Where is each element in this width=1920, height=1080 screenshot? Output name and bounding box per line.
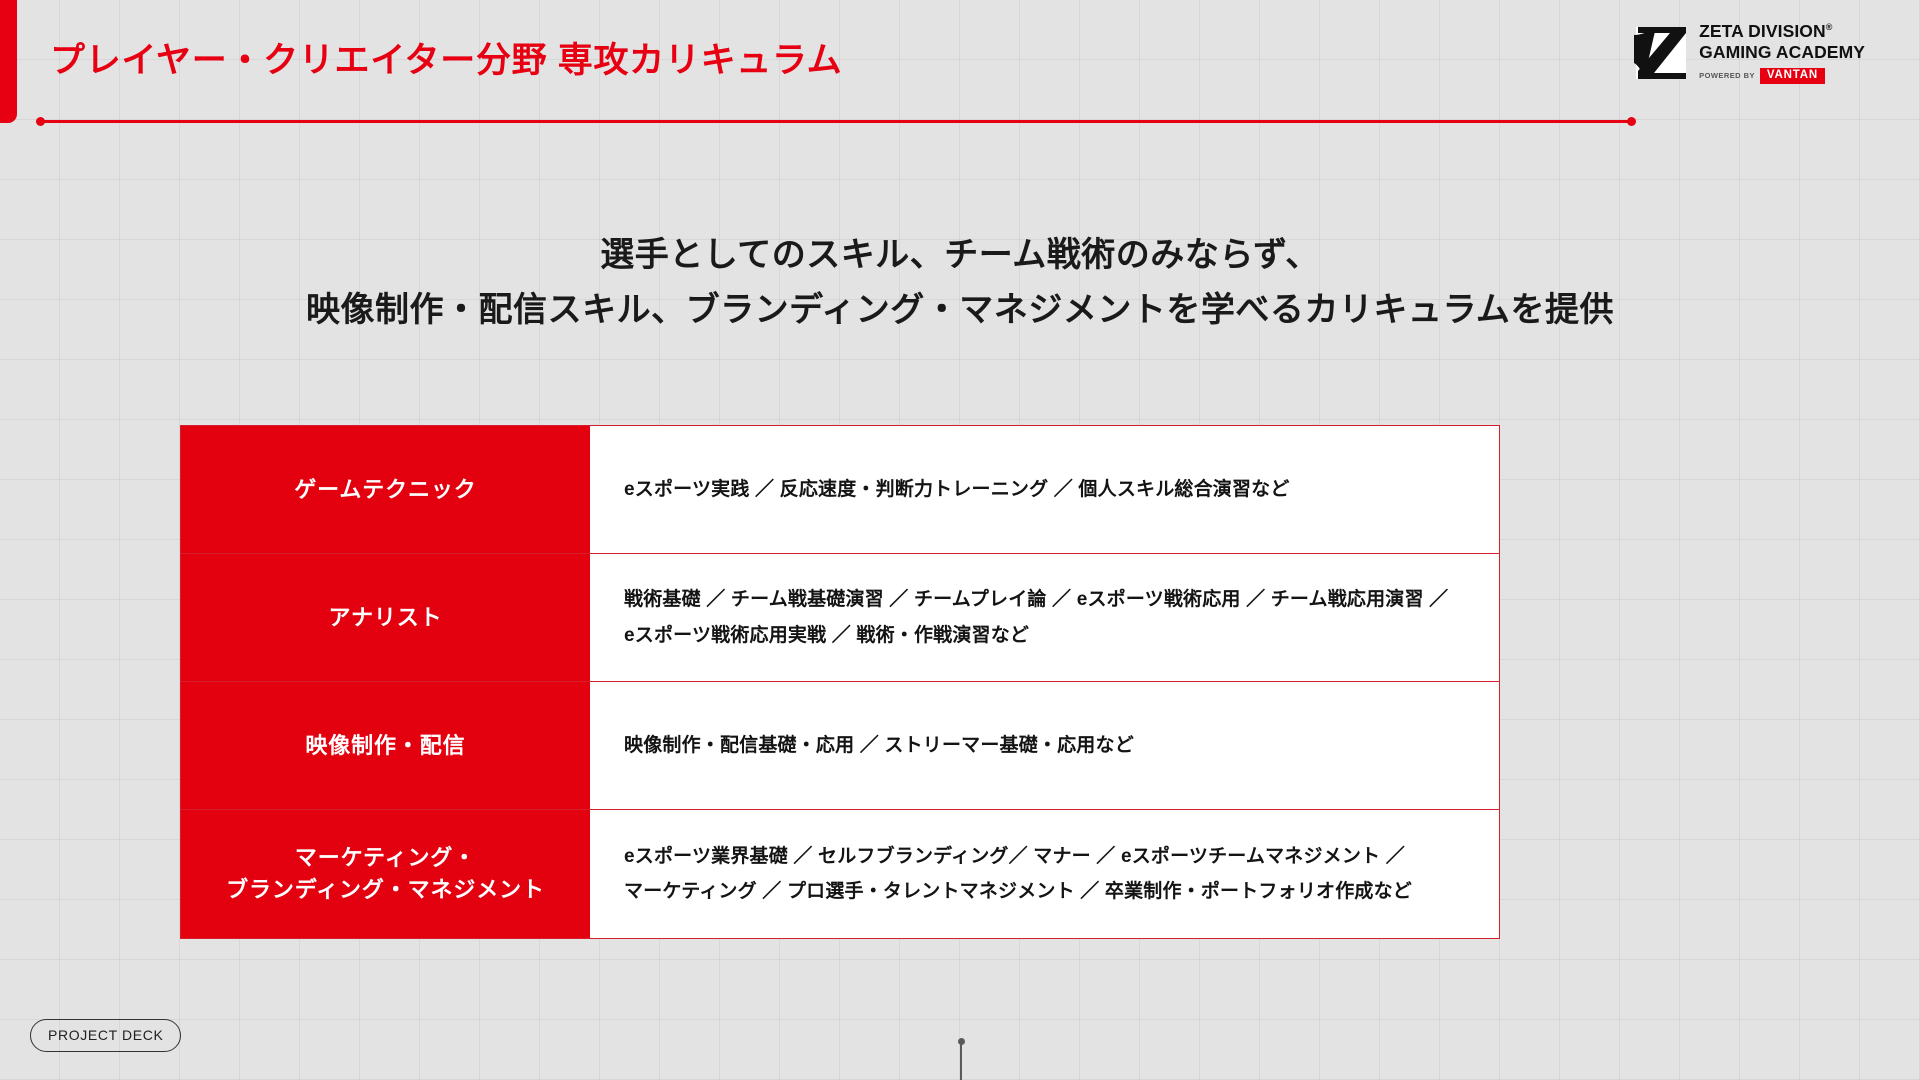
logo-line-1: ZETA DIVISION® xyxy=(1699,21,1832,41)
table-row: アナリスト 戦術基礎 ／ チーム戦基礎演習 ／ チームプレイ論 ／ eスポーツ戦… xyxy=(181,554,1499,682)
row-label-marketing-branding-management: マーケティング・ ブランディング・マネジメント xyxy=(181,810,590,938)
content-line: マーケティング ／ プロ選手・タレントマネジメント ／ 卒業制作・ポートフォリオ… xyxy=(624,874,1465,909)
header-divider-rule xyxy=(40,120,1632,123)
row-label-video-production-streaming: 映像制作・配信 xyxy=(181,682,590,809)
content-line: eスポーツ業界基礎 ／ セルフブランディング／ マナー ／ eスポーツチームマネ… xyxy=(624,839,1465,874)
vantan-badge: VANTAN xyxy=(1760,68,1825,84)
lead-heading: 選手としてのスキル、チーム戦術のみならず、 映像制作・配信スキル、ブランディング… xyxy=(0,228,1920,338)
powered-by-group: POWERED BY VANTAN xyxy=(1699,68,1865,84)
content-line: 映像制作・配信基礎・応用 ／ ストリーマー基礎・応用など xyxy=(624,728,1465,763)
row-label-game-technique: ゲームテクニック xyxy=(181,426,590,553)
footer-center-tick-mark xyxy=(960,1042,962,1080)
registered-trademark-icon: ® xyxy=(1826,22,1833,32)
logo-wordmark: ZETA DIVISION® GAMING ACADEMY POWERED BY… xyxy=(1699,23,1865,84)
header-accent-bar xyxy=(0,0,17,123)
row-content-marketing-branding-management: eスポーツ業界基礎 ／ セルフブランディング／ マナー ／ eスポーツチームマネ… xyxy=(590,810,1499,938)
lead-heading-line-1: 選手としてのスキル、チーム戦術のみならず、 xyxy=(0,228,1920,283)
row-content-video-production-streaming: 映像制作・配信基礎・応用 ／ ストリーマー基礎・応用など xyxy=(590,682,1499,809)
page-title: プレイヤー・クリエイター分野 専攻カリキュラム xyxy=(50,32,842,83)
table-row: ゲームテクニック eスポーツ実践 ／ 反応速度・判断力トレーニング ／ 個人スキ… xyxy=(181,426,1499,554)
row-label-analyst: アナリスト xyxy=(181,554,590,681)
footer-project-deck-badge: PROJECT DECK xyxy=(30,1019,181,1052)
slide-header: プレイヤー・クリエイター分野 専攻カリキュラム ZETA DIVISION® G… xyxy=(0,0,1920,132)
table-row: マーケティング・ ブランディング・マネジメント eスポーツ業界基礎 ／ セルフブ… xyxy=(181,810,1499,938)
row-label-line-1: マーケティング・ xyxy=(295,845,476,870)
powered-by-label: POWERED BY xyxy=(1699,72,1755,80)
content-line: eスポーツ実践 ／ 反応速度・判断力トレーニング ／ 個人スキル総合演習など xyxy=(624,472,1465,507)
content-line: eスポーツ戦術応用実戦 ／ 戦術・作戦演習など xyxy=(624,618,1465,653)
row-content-analyst: 戦術基礎 ／ チーム戦基礎演習 ／ チームプレイ論 ／ eスポーツ戦術応用 ／ … xyxy=(590,554,1499,681)
row-content-game-technique: eスポーツ実践 ／ 反応速度・判断力トレーニング ／ 個人スキル総合演習など xyxy=(590,426,1499,553)
table-row: 映像制作・配信 映像制作・配信基礎・応用 ／ ストリーマー基礎・応用など xyxy=(181,682,1499,810)
lead-heading-line-2: 映像制作・配信スキル、ブランディング・マネジメントを学べるカリキュラムを提供 xyxy=(0,283,1920,338)
curriculum-table: ゲームテクニック eスポーツ実践 ／ 反応速度・判断力トレーニング ／ 個人スキ… xyxy=(180,425,1500,939)
zeta-division-z-mark-icon xyxy=(1634,27,1688,79)
logo-line-2: GAMING ACADEMY xyxy=(1699,44,1865,62)
brand-logo: ZETA DIVISION® GAMING ACADEMY POWERED BY… xyxy=(1634,23,1865,84)
row-label-line-2: ブランディング・マネジメント xyxy=(226,877,545,902)
content-line: 戦術基礎 ／ チーム戦基礎演習 ／ チームプレイ論 ／ eスポーツ戦術応用 ／ … xyxy=(624,582,1465,617)
